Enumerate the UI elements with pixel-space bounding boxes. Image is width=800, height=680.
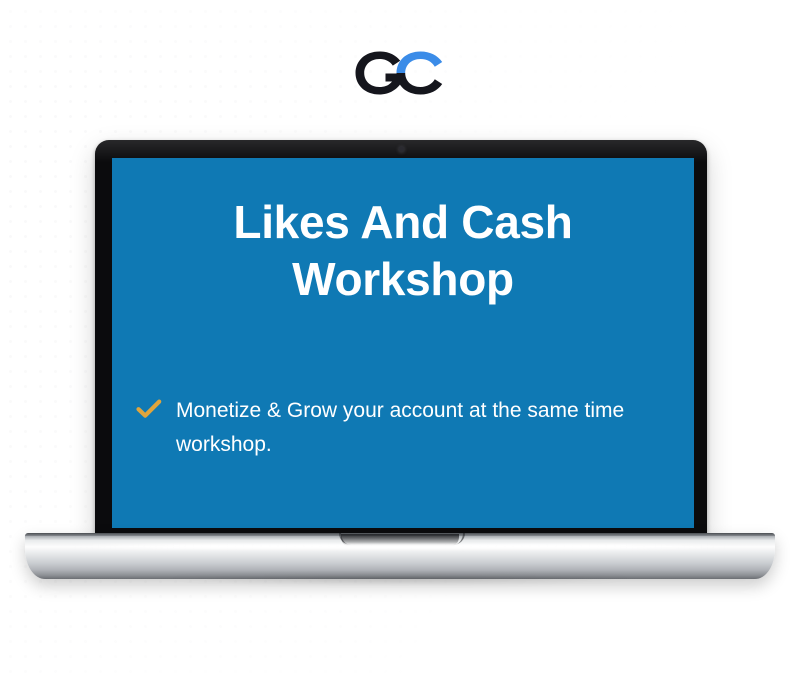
background-fade-vertical [0,0,800,680]
logo-c-arc-top [397,52,443,74]
laptop-base [25,533,775,579]
laptop-screen: Likes And Cash Workshop Monetize & Grow … [112,158,694,528]
background-dot-pattern [0,0,800,680]
laptop-mockup: Likes And Cash Workshop Monetize & Grow … [0,0,800,680]
laptop-base-highlight [70,544,730,549]
logo-c-arc-bottom [397,73,443,95]
laptop-base-shadow [70,577,730,593]
webcam-dot-icon [399,147,404,152]
page-root: Likes And Cash Workshop Monetize & Grow … [0,0,800,680]
slide-bullet-item: Monetize & Grow your account at the same… [136,394,658,462]
background-fade-corner [0,0,800,680]
background-fade-diagonal [0,0,800,680]
laptop-lid-bezel [95,140,707,536]
gc-infinity-logo-icon [352,47,448,99]
logo-g-loop [356,52,403,95]
bezel-sheen [95,140,707,162]
slide-title: Likes And Cash Workshop [112,194,694,308]
check-icon [136,399,162,419]
slide-bullet-text: Monetize & Grow your account at the same… [176,394,658,462]
laptop-base-notch [341,534,459,547]
laptop-base-notch-lip [339,533,465,545]
brand-logo [0,44,800,102]
laptop-base-top-edge [25,533,775,536]
laptop-base-body [25,533,775,579]
